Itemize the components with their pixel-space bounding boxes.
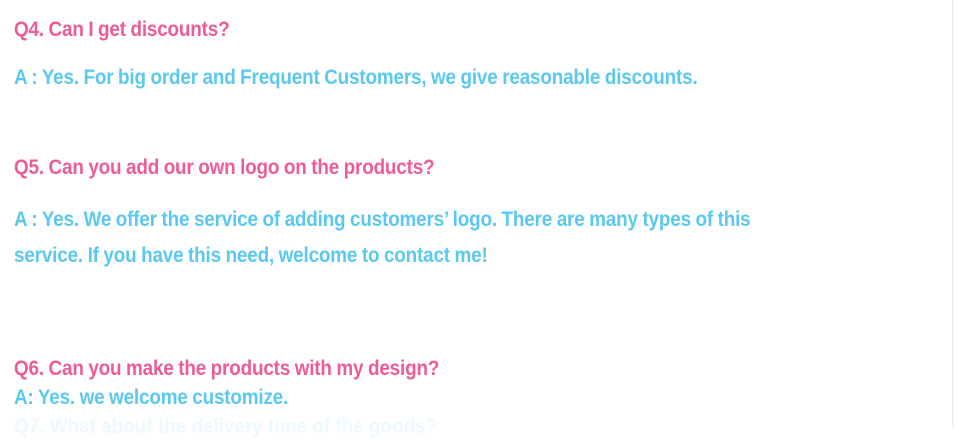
faq-question-q4: Q4. Can I get discounts? — [14, 18, 761, 42]
faq-answer-q6: A: Yes. we welcome customize. — [14, 385, 439, 411]
faq-item-q4: Q4. Can I get discounts? A : Yes. For bi… — [14, 18, 844, 90]
faq-answer-q5: A : Yes. We offer the service of adding … — [14, 202, 788, 274]
faq-question-q6: Q6. Can you make the products with my de… — [14, 356, 439, 382]
faq-item-q5: Q5. Can you add our own logo on the prod… — [14, 156, 874, 274]
content-column-divider — [952, 0, 953, 426]
faq-question-q5: Q5. Can you add our own logo on the prod… — [14, 156, 788, 180]
faq-item-q6: Q6. Can you make the products with my de… — [14, 356, 486, 411]
faq-page: Q4. Can I get discounts? A : Yes. For bi… — [0, 0, 959, 426]
faq-answer-q4: A : Yes. For big order and Frequent Cust… — [14, 65, 761, 90]
faq-next-item-clipped: Q7. What about the delivery time of the … — [14, 414, 644, 440]
